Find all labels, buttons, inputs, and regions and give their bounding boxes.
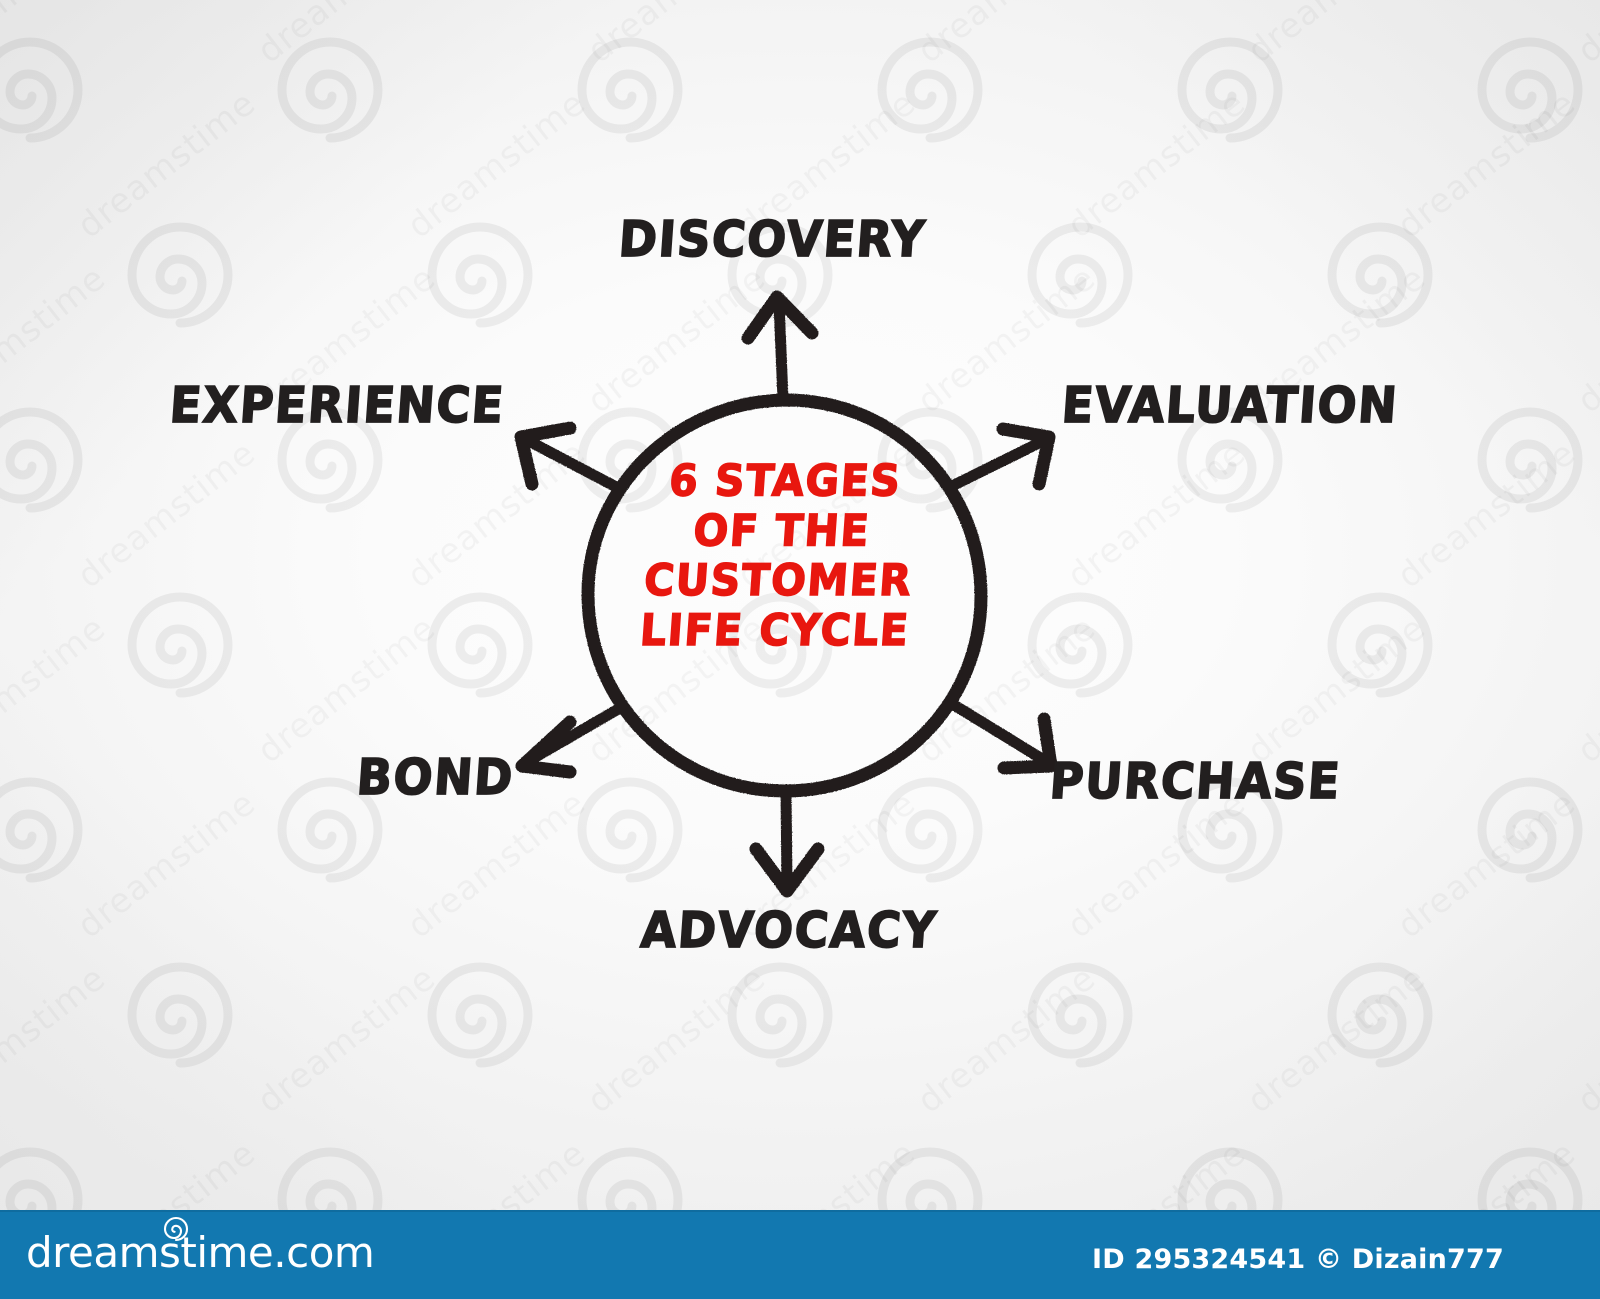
center-title-line-1: 6 STAGES bbox=[588, 456, 981, 506]
dreamstime-logo[interactable]: dreamstime.com bbox=[26, 1230, 374, 1276]
arrow-line-purchase bbox=[954, 705, 1047, 762]
center-title: 6 STAGES OF THE CUSTOMER LIFE CYCLE bbox=[578, 456, 982, 655]
arrow-line-discovery bbox=[779, 303, 783, 399]
branch-label-advocacy: ADVOCACY bbox=[639, 901, 939, 959]
image-credit: ID 295324541 © Dizain777 bbox=[1092, 1244, 1504, 1275]
branch-label-discovery: DISCOVERY bbox=[617, 210, 928, 268]
screenshot-canvas: dreamstimedreamstimedreamstimedreamstime… bbox=[0, 0, 1600, 1299]
center-title-line-3: CUSTOMER bbox=[582, 556, 975, 606]
branch-label-purchase: PURCHASE bbox=[1048, 752, 1343, 810]
dreamstime-logo-text: dreamstime.com bbox=[26, 1230, 374, 1276]
center-title-line-2: OF THE bbox=[585, 506, 978, 556]
branch-label-experience: EXPERIENCE bbox=[168, 376, 507, 434]
stock-footer-bar: dreamstime.com ID 295324541 © Dizain777 bbox=[0, 1210, 1600, 1299]
center-title-line-4: LIFE CYCLE bbox=[578, 606, 971, 656]
branch-label-evaluation: EVALUATION bbox=[1060, 376, 1400, 434]
arrow-line-advocacy bbox=[786, 790, 787, 886]
branch-label-bond: BOND bbox=[355, 748, 516, 806]
spiral-logo-icon bbox=[161, 1214, 191, 1248]
